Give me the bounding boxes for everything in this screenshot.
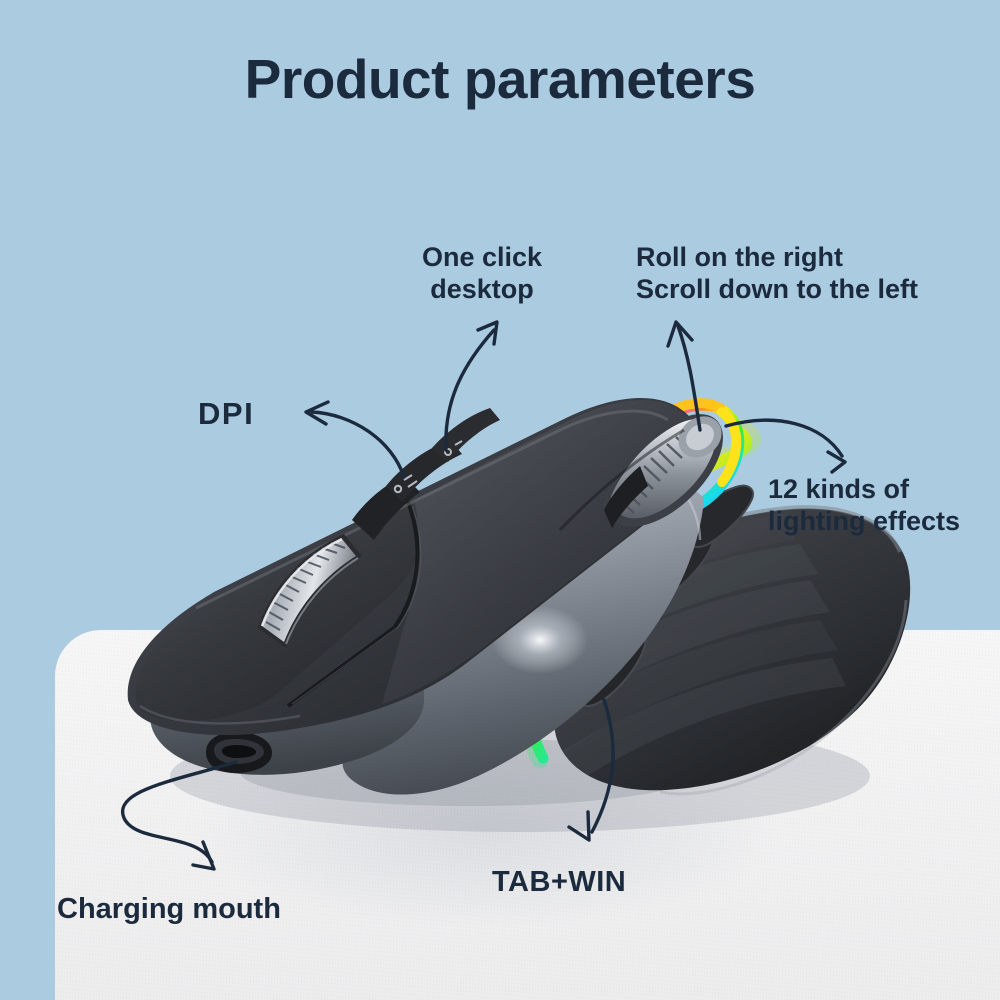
product-parameters-infographic: Product parameters: [0, 0, 1000, 1000]
mode-button: [432, 408, 500, 462]
callout-label-charging-mouth: Charging mouth: [57, 893, 281, 927]
callout-label-dpi: DPI: [198, 396, 254, 432]
callout-label-lighting: 12 kinds of lighting effects: [768, 474, 960, 537]
callout-label-roll-scroll: Roll on the right Scroll down to the lef…: [636, 242, 918, 305]
callout-label-tab-win: TAB+WIN: [492, 866, 626, 900]
charging-port: [206, 732, 272, 773]
callout-label-one-click: One click desktop: [398, 242, 566, 305]
